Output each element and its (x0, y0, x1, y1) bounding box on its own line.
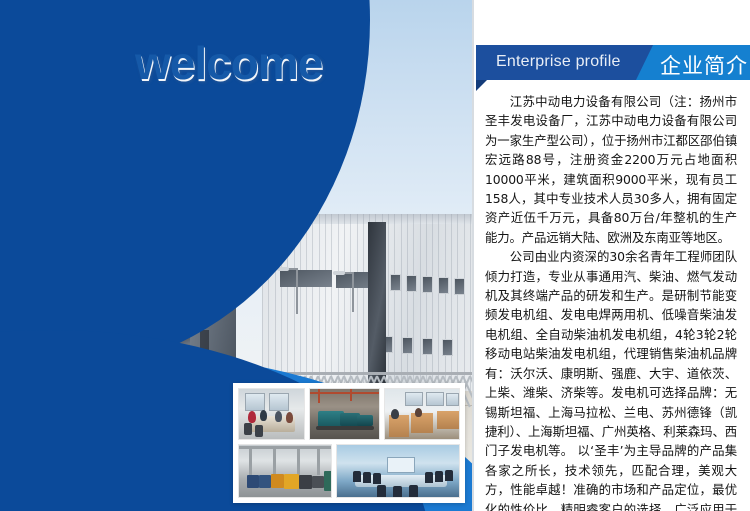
core-slit (200, 240, 209, 260)
thumbnail-row-top (238, 388, 460, 440)
window-spandrel (44, 241, 59, 250)
company-sign-plaque: 江苏中动电力设备有限公司 Zhongdong Power Equipment C… (6, 284, 142, 325)
shed-rib (287, 214, 288, 396)
building-sign-text: 中动电力 (208, 124, 284, 140)
building-window (176, 134, 191, 161)
window-column (154, 118, 169, 400)
shed-small-window (442, 339, 453, 356)
building-window (132, 334, 147, 361)
window-spandrel (176, 321, 191, 330)
shed-rib (432, 214, 433, 396)
window-spandrel (154, 241, 169, 250)
thumb-open-office[interactable] (384, 388, 460, 440)
building-window (88, 334, 103, 361)
shed-rib (312, 214, 313, 396)
window-spandrel (132, 201, 147, 210)
thumbnail-strip (233, 383, 465, 503)
window-column (88, 118, 103, 400)
window-spandrel (88, 201, 103, 210)
section-tab-bar: Enterprise profile 企业简介 (476, 45, 750, 80)
window-spandrel (66, 161, 81, 170)
shed-rib (357, 214, 358, 396)
shed-rib (363, 214, 364, 396)
window-spandrel (154, 161, 169, 170)
window-column (132, 118, 147, 400)
shed-rib (331, 214, 332, 396)
shed-rib (388, 214, 389, 396)
building-window (176, 214, 191, 241)
workshop-shed (262, 214, 472, 396)
window-spandrel (44, 201, 59, 210)
building-window (154, 214, 169, 241)
window-column (44, 118, 59, 400)
shed-rib (445, 214, 446, 396)
shed-small-window (402, 337, 413, 354)
building-window (110, 334, 125, 361)
window-spandrel (88, 161, 103, 170)
building-window (44, 214, 59, 241)
building-window (154, 334, 169, 361)
building-window (44, 134, 59, 161)
thumbnail-row-bottom (238, 444, 460, 498)
shed-small-window (438, 277, 449, 294)
building-window (176, 334, 191, 361)
building-window (44, 174, 59, 201)
window-column (176, 118, 191, 400)
window-spandrel (154, 321, 169, 330)
building-window (132, 214, 147, 241)
shed-rib (413, 214, 414, 396)
shed-rib (464, 214, 465, 396)
shed-rib (457, 214, 458, 396)
window-spandrel (154, 201, 169, 210)
shed-small-window (406, 275, 417, 292)
shed-rib (300, 214, 301, 396)
building-window (88, 174, 103, 201)
building-window (88, 134, 103, 161)
shed-small-window (422, 276, 433, 293)
tab-notch-triangle (476, 80, 487, 91)
street-lamp-pole (352, 272, 354, 312)
window-spandrel (154, 281, 169, 290)
shed-rib (470, 214, 471, 396)
enterprise-profile-panel: Enterprise profile 企业简介 江苏中动电力设备有限公司（注：扬… (472, 0, 750, 511)
building-window (66, 134, 81, 161)
shed-small-window (454, 278, 465, 295)
building-window (176, 294, 191, 321)
window-spandrel (176, 201, 191, 210)
core-slit (200, 150, 209, 170)
shed-large-window (280, 270, 332, 287)
shed-rib (338, 214, 339, 396)
window-spandrel (66, 361, 81, 370)
thumb-conference-room[interactable] (336, 444, 460, 498)
window-spandrel (110, 201, 125, 210)
window-spandrel (132, 241, 147, 250)
window-spandrel (66, 241, 81, 250)
shed-rib (426, 214, 427, 396)
window-spandrel (176, 361, 191, 370)
thumb-meeting-small[interactable] (238, 388, 305, 440)
window-spandrel (132, 361, 147, 370)
building-window (176, 174, 191, 201)
shed-rib (401, 214, 402, 396)
shed-rib (275, 214, 276, 396)
building-window (110, 174, 125, 201)
shed-rib (451, 214, 452, 396)
street-lamp-head (277, 267, 289, 271)
window-spandrel (44, 361, 59, 370)
profile-body-text: 江苏中动电力设备有限公司（注：扬州市圣丰发电设备厂，江苏中动电力设备有限公司为一… (485, 92, 737, 511)
core-slit (200, 180, 209, 200)
building-window (176, 254, 191, 281)
shed-small-window (390, 274, 401, 291)
building-window (66, 254, 81, 281)
window-spandrel (176, 161, 191, 170)
building-window (66, 214, 81, 241)
office-building (30, 118, 190, 400)
window-spandrel (88, 241, 103, 250)
window-spandrel (154, 361, 169, 370)
shed-rib (325, 214, 326, 396)
building-window (132, 174, 147, 201)
window-column (66, 118, 81, 400)
window-spandrel (88, 361, 103, 370)
building-window (154, 254, 169, 281)
welcome-heading: welcome (135, 36, 322, 90)
building-window (110, 254, 125, 281)
building-window (88, 254, 103, 281)
building-window (110, 134, 125, 161)
core-slit (200, 210, 209, 230)
panel-left-edge (472, 0, 474, 511)
building-window (154, 174, 169, 201)
building-window (44, 334, 59, 361)
building-window (66, 174, 81, 201)
building-window (110, 214, 125, 241)
window-spandrel (176, 281, 191, 290)
building-window (88, 214, 103, 241)
shed-rib (407, 214, 408, 396)
window-spandrel (66, 201, 81, 210)
core-slit (200, 270, 209, 290)
window-spandrel (176, 241, 191, 250)
thumb-assembly-hall[interactable] (238, 444, 332, 498)
shed-rib (281, 214, 282, 396)
tab-label-cn: 企业简介 (660, 50, 748, 80)
window-spandrel (110, 241, 125, 250)
core-slit (200, 300, 209, 320)
shed-rib (438, 214, 439, 396)
shed-rib (344, 214, 345, 396)
shed-rib (319, 214, 320, 396)
building-window (132, 134, 147, 161)
shed-small-window (422, 338, 433, 355)
promo-banner-page: 中动电力 江苏中动电力设备有限公司 Zhongdong Power Equipm… (0, 0, 750, 511)
tab-label-en: Enterprise profile (496, 53, 621, 71)
company-sign-wall: 江苏中动电力设备有限公司 Zhongdong Power Equipment C… (0, 276, 152, 332)
street-lamp-pole (296, 268, 298, 314)
building-window (154, 134, 169, 161)
window-column (110, 118, 125, 400)
gate-rail (0, 372, 472, 375)
window-spandrel (44, 161, 59, 170)
building-window (44, 254, 59, 281)
hero-section: 中动电力 江苏中动电力设备有限公司 Zhongdong Power Equipm… (0, 0, 472, 511)
profile-paragraph: 公司由业内资深的30余名青年工程师团队倾力打造，专业从事通用汽、柴油、燃气发动机… (485, 247, 737, 511)
window-spandrel (110, 361, 125, 370)
shed-rib (268, 214, 269, 396)
core-slit (200, 330, 209, 350)
shed-rib (262, 214, 263, 396)
building-window (154, 294, 169, 321)
shed-rib (294, 214, 295, 396)
window-spandrel (110, 161, 125, 170)
thumb-generator-workshop[interactable] (309, 388, 381, 440)
shed-rib (306, 214, 307, 396)
window-spandrel (132, 161, 147, 170)
profile-paragraph: 江苏中动电力设备有限公司（注：扬州市圣丰发电设备厂，江苏中动电力设备有限公司为一… (485, 92, 737, 247)
shed-rib (420, 214, 421, 396)
building-window (66, 334, 81, 361)
shed-rib (394, 214, 395, 396)
street-lamp-head (333, 271, 345, 275)
